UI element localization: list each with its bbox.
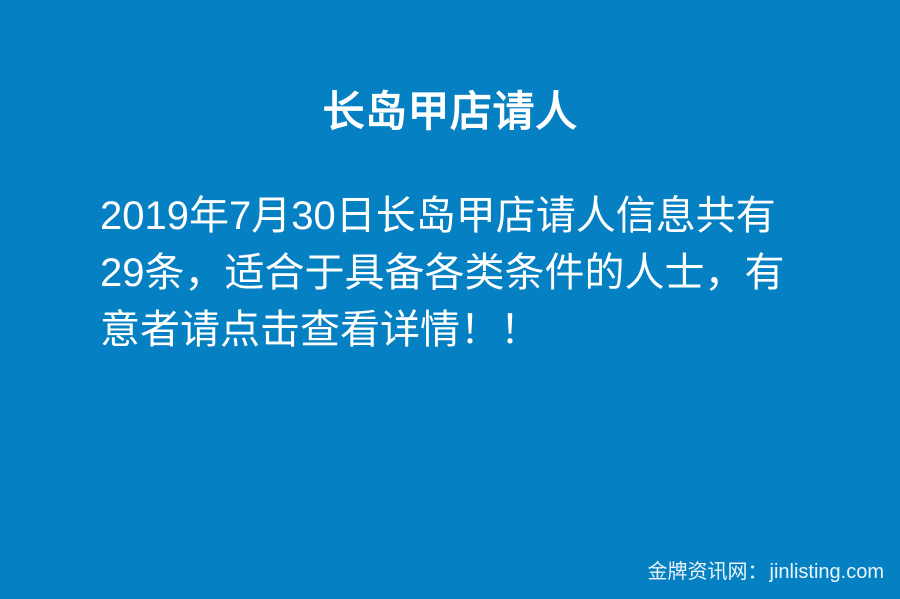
body-line-2: 29条，适合于具备各类条件的人士，有: [100, 245, 800, 302]
watermark: 金牌资讯网：jinlisting.com: [648, 559, 884, 585]
watermark-site-url: jinlisting.com: [768, 561, 884, 583]
body-text-block: 2019年7月30日长岛甲店请人信息共有 29条，适合于具备各类条件的人士，有 …: [100, 188, 800, 359]
body-line-1: 2019年7月30日长岛甲店请人信息共有: [100, 188, 800, 245]
watermark-site-label: 金牌资讯网：: [648, 561, 768, 583]
body-line-3: 意者请点击查看详情！！: [100, 302, 800, 359]
poster-canvas: 长岛甲店请人 2019年7月30日长岛甲店请人信息共有 29条，适合于具备各类条…: [0, 0, 900, 599]
title-block: 长岛甲店请人: [0, 84, 900, 140]
page-title: 长岛甲店请人: [322, 84, 577, 140]
